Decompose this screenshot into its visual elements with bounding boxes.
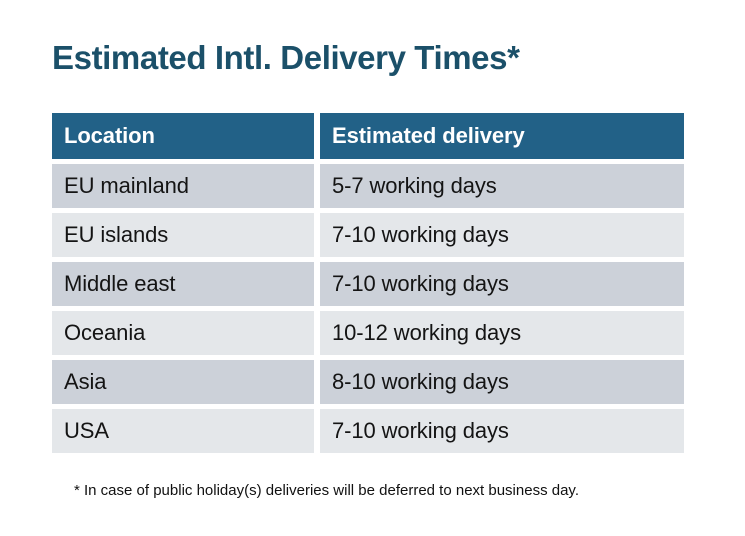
table-header: Location Estimated delivery bbox=[52, 113, 684, 159]
cell-estimated-delivery: 5-7 working days bbox=[320, 164, 684, 208]
page-title: Estimated Intl. Delivery Times* bbox=[52, 38, 520, 78]
delivery-times-page: Estimated Intl. Delivery Times* Location… bbox=[0, 0, 745, 536]
table-row: Middle east 7-10 working days bbox=[52, 262, 684, 306]
table-row: EU islands 7-10 working days bbox=[52, 213, 684, 257]
cell-location: Oceania bbox=[52, 311, 314, 355]
estimated-delivery-times-table: Location Estimated delivery EU mainland … bbox=[46, 108, 690, 458]
cell-estimated-delivery: 8-10 working days bbox=[320, 360, 684, 404]
cell-location: Asia bbox=[52, 360, 314, 404]
table-header-row: Location Estimated delivery bbox=[52, 113, 684, 159]
cell-location: EU mainland bbox=[52, 164, 314, 208]
table-body: EU mainland 5-7 working days EU islands … bbox=[52, 164, 684, 453]
cell-estimated-delivery: 7-10 working days bbox=[320, 262, 684, 306]
cell-location: Middle east bbox=[52, 262, 314, 306]
cell-location: USA bbox=[52, 409, 314, 453]
column-header-estimated-delivery: Estimated delivery bbox=[320, 113, 684, 159]
table-row: Asia 8-10 working days bbox=[52, 360, 684, 404]
column-header-location: Location bbox=[52, 113, 314, 159]
table-footnote: * In case of public holiday(s) deliverie… bbox=[74, 481, 579, 501]
cell-estimated-delivery: 10-12 working days bbox=[320, 311, 684, 355]
table-row: USA 7-10 working days bbox=[52, 409, 684, 453]
table-row: EU mainland 5-7 working days bbox=[52, 164, 684, 208]
cell-location: EU islands bbox=[52, 213, 314, 257]
table-row: Oceania 10-12 working days bbox=[52, 311, 684, 355]
cell-estimated-delivery: 7-10 working days bbox=[320, 409, 684, 453]
cell-estimated-delivery: 7-10 working days bbox=[320, 213, 684, 257]
